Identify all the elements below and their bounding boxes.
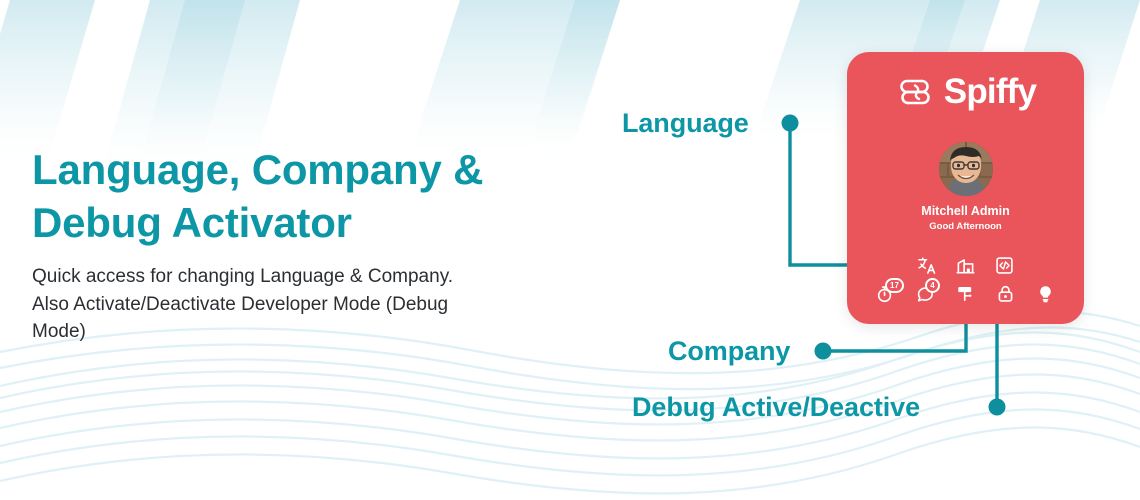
quick-actions-secondary: 17 4: [847, 284, 1084, 303]
annotation-label-debug: Debug Active/Deactive: [632, 392, 920, 423]
activity-icon[interactable]: [956, 284, 975, 303]
annotation-label-language: Language: [622, 108, 749, 139]
timer-badge: 17: [885, 278, 904, 293]
connector-dot-debug: [989, 399, 1006, 416]
page-description: Quick access for changing Language & Com…: [32, 263, 482, 346]
brand-lockup: Spiffy: [847, 72, 1084, 112]
connector-dot-company: [815, 343, 832, 360]
lightbulb-icon[interactable]: [1036, 284, 1055, 303]
chat-bubble-icon[interactable]: 4: [916, 284, 935, 303]
user-name: Mitchell Admin: [847, 204, 1084, 218]
quick-actions-primary: [847, 256, 1084, 275]
timer-icon[interactable]: 17: [876, 284, 895, 303]
translate-icon[interactable]: [917, 256, 936, 275]
brand-name: Spiffy: [944, 72, 1036, 112]
debug-code-icon[interactable]: [995, 256, 1014, 275]
connector-dot-language: [782, 115, 799, 132]
chat-badge: 4: [925, 278, 940, 293]
lock-icon[interactable]: [996, 284, 1015, 303]
user-greeting: Good Afternoon: [847, 221, 1084, 232]
spiffy-s-logo-icon: [895, 72, 935, 112]
spiffy-user-card: Spiffy Mitch: [847, 52, 1084, 324]
annotation-label-company: Company: [668, 336, 790, 367]
page-title: Language, Company & Debug Activator: [32, 144, 552, 249]
user-avatar[interactable]: [939, 142, 993, 196]
company-building-icon[interactable]: [956, 256, 975, 275]
banner-canvas: Language, Company & Debug Activator Quic…: [0, 0, 1140, 500]
